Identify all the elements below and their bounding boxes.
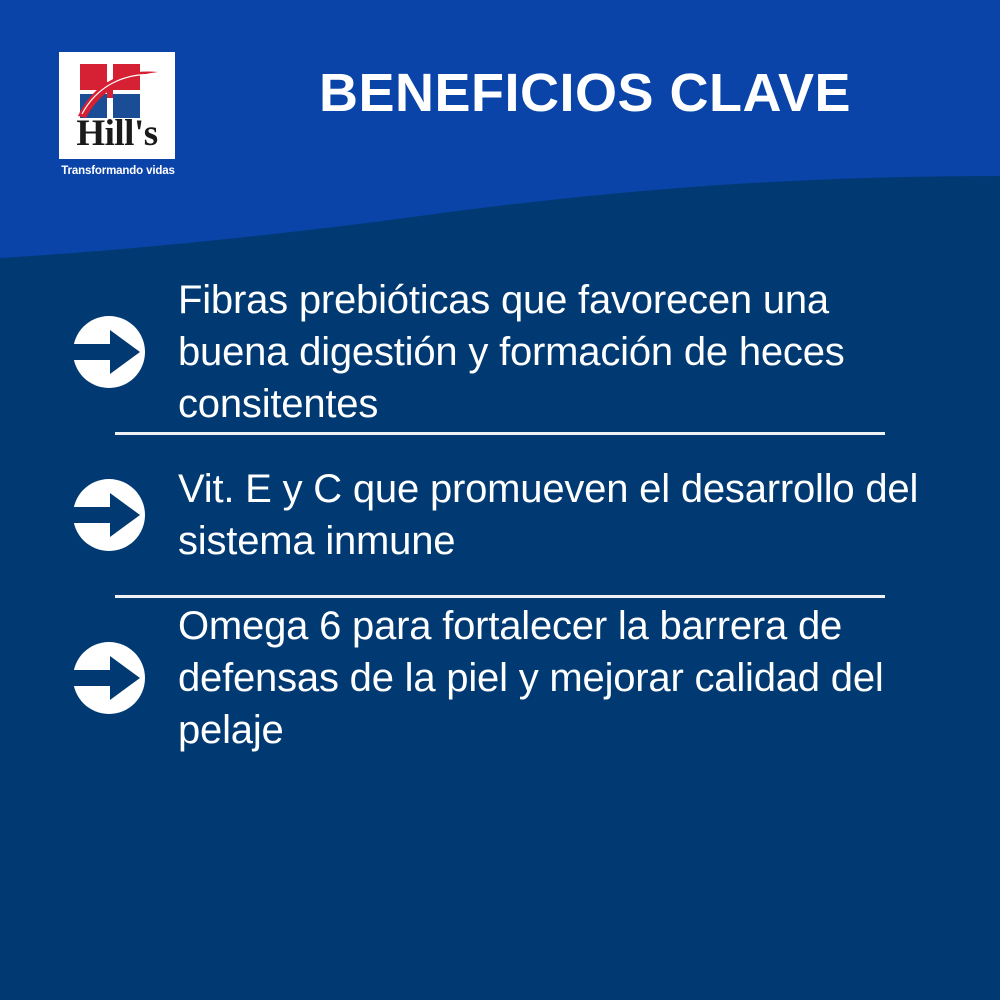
benefits-list: Fibras prebióticas que favorecen una bue…	[0, 272, 1000, 758]
benefit-item: Vit. E y C que promueven el desarrollo d…	[0, 435, 1000, 595]
benefit-item: Fibras prebióticas que favorecen una bue…	[0, 272, 1000, 432]
benefit-text: Vit. E y C que promueven el desarrollo d…	[178, 463, 948, 567]
arrow-circle-right-icon	[70, 639, 148, 717]
benefits-poster: Hill's Transformando vidas BENEFICIOS CL…	[0, 0, 1000, 1000]
benefit-text: Omega 6 para fortalecer la barrera de de…	[178, 600, 948, 756]
arrow-circle-right-icon	[70, 313, 148, 391]
brand-logo: Hill's Transformando vidas	[48, 52, 188, 177]
arrow-circle-right-icon	[70, 476, 148, 554]
hills-h-monogram-icon	[76, 60, 160, 120]
brand-tagline: Transformando vidas	[48, 165, 188, 177]
logo-wordmark: Hill's	[59, 114, 175, 154]
benefit-text: Fibras prebióticas que favorecen una bue…	[178, 274, 948, 430]
logo-card: Hill's	[59, 52, 175, 159]
benefit-item: Omega 6 para fortalecer la barrera de de…	[0, 598, 1000, 758]
page-title: BENEFICIOS CLAVE	[200, 63, 970, 123]
